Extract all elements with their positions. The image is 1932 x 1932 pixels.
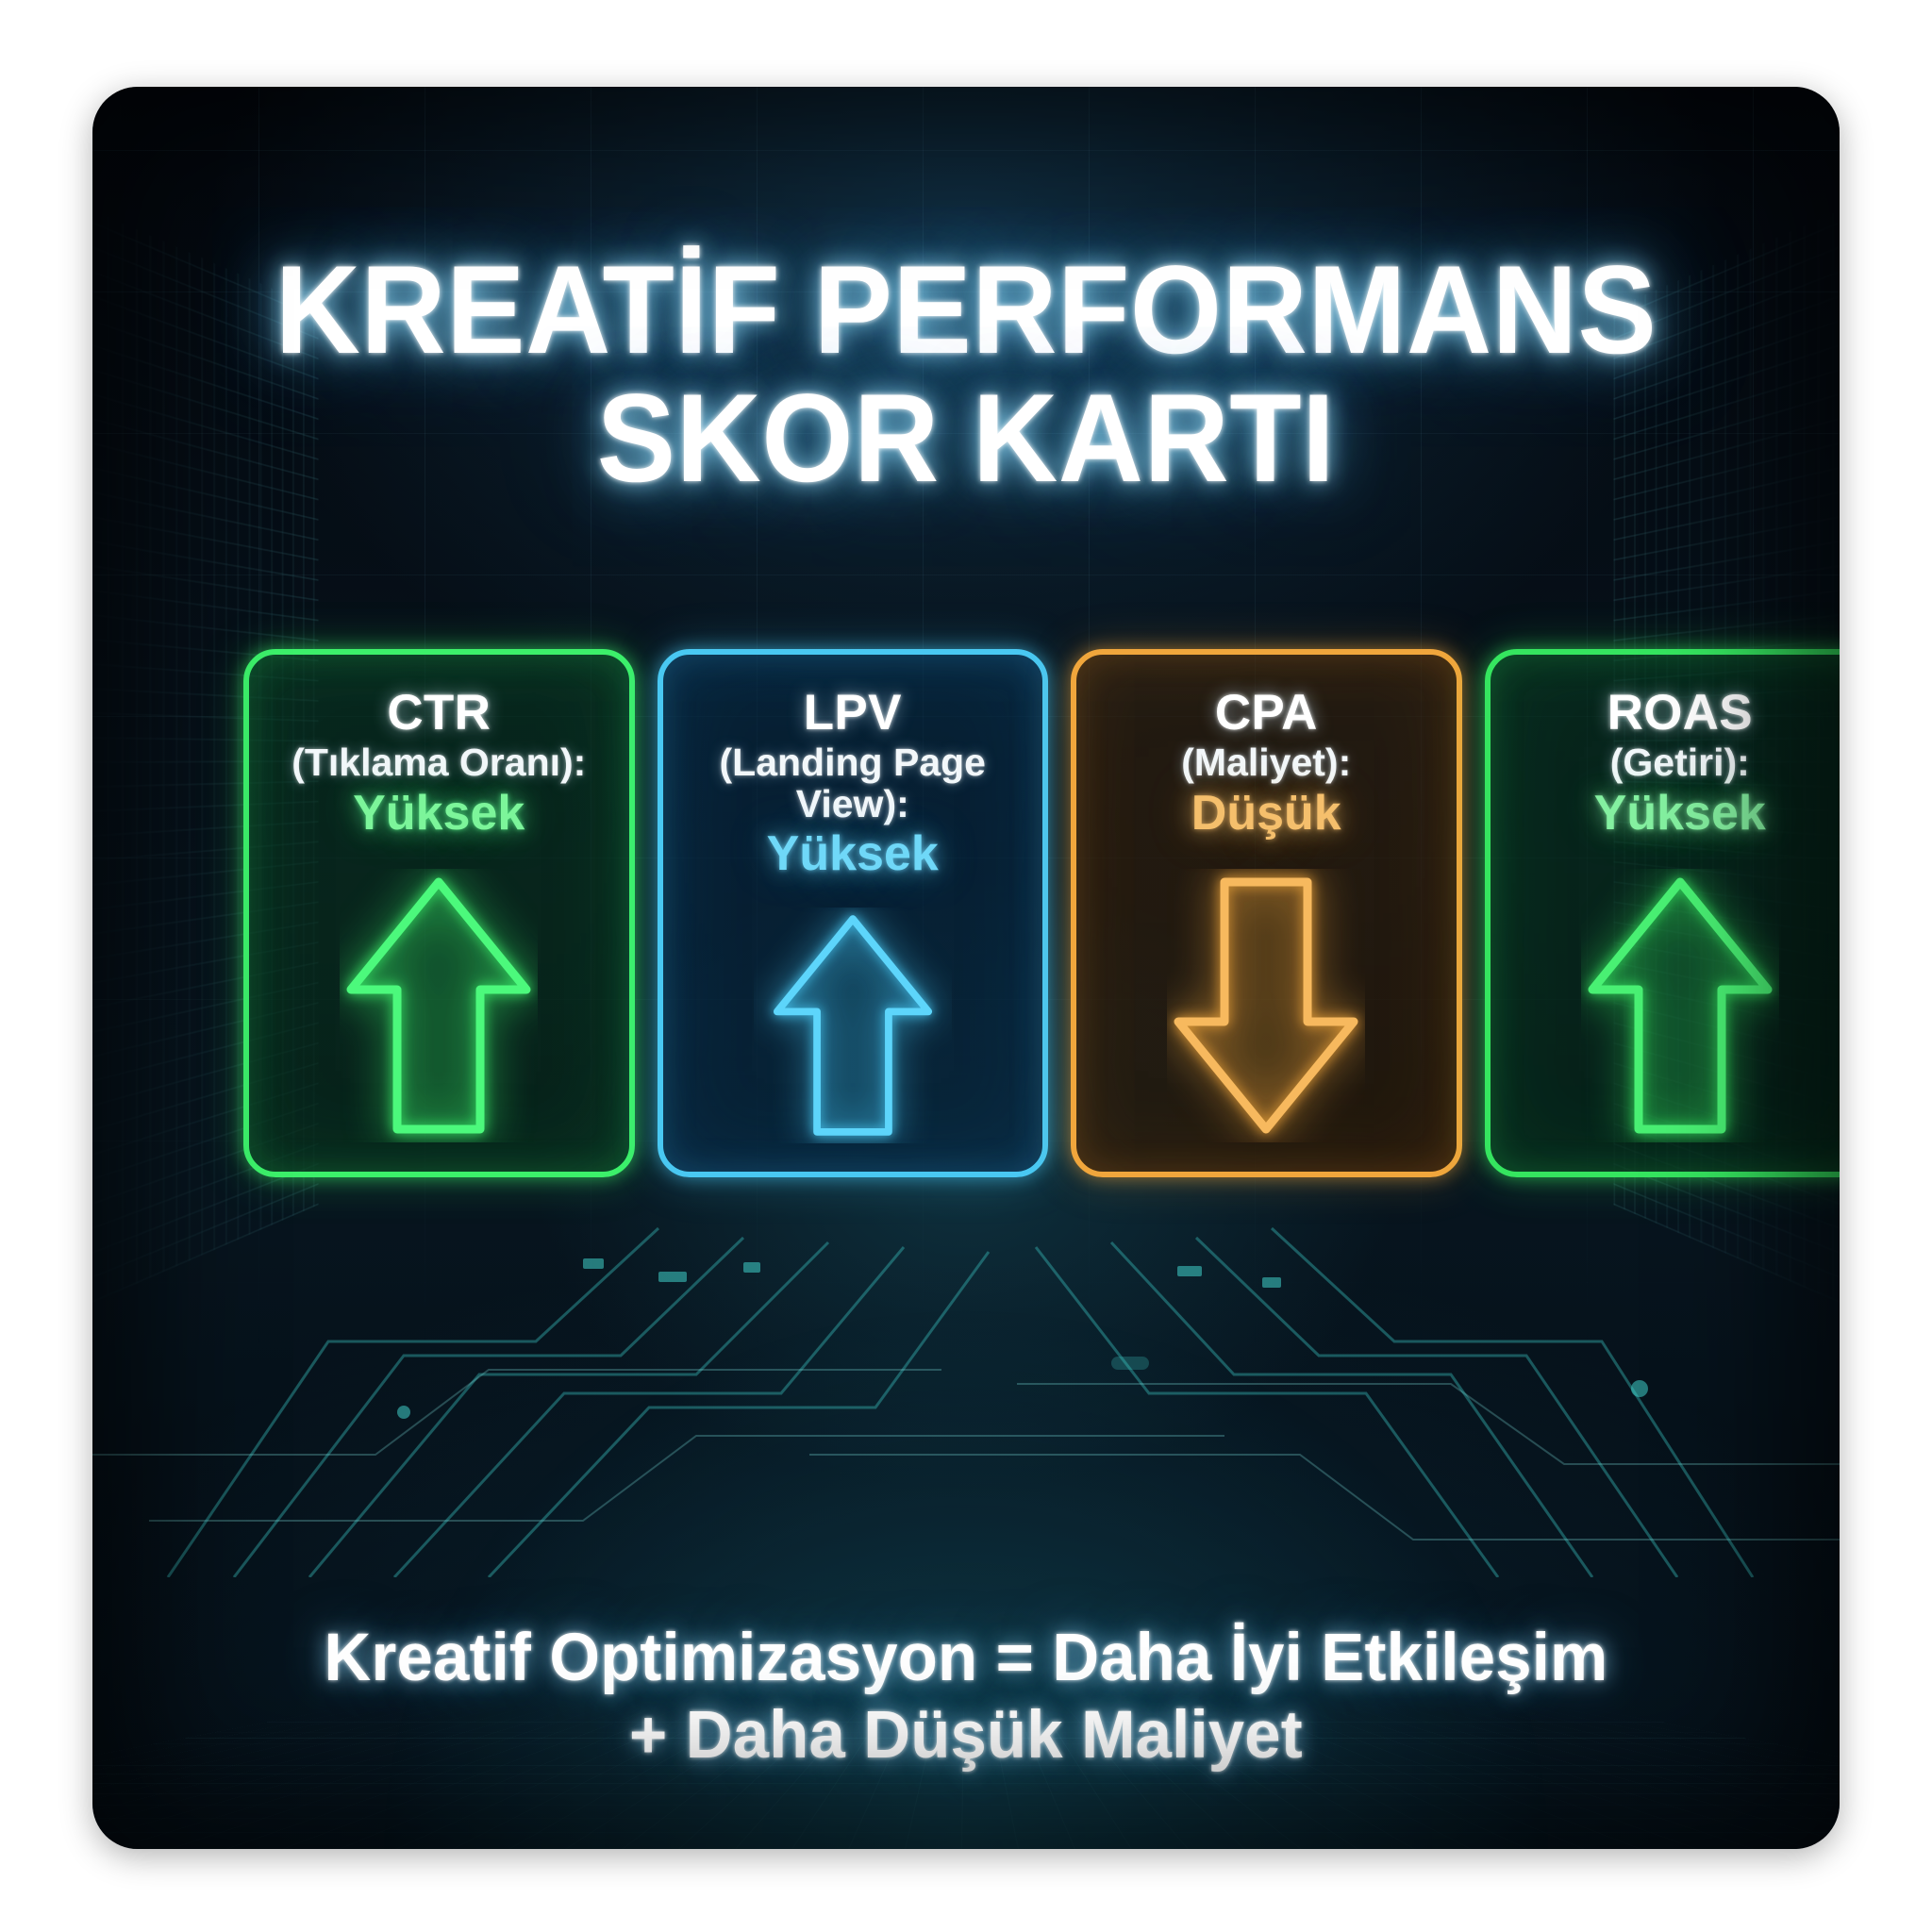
metric-value-lpv: Yüksek	[767, 828, 939, 880]
arrow-up-icon	[249, 839, 629, 1172]
metric-card-row: CTR (Tıklama Oranı): Yüksek LPV (Landing…	[243, 649, 1840, 1177]
footer-caption: Kreatif Optimizasyon = Daha İyi Etkileşi…	[92, 1620, 1840, 1775]
metric-code-roas: ROAS	[1607, 687, 1753, 739]
caption-line-2: + Daha Düşük Maliyet	[119, 1697, 1813, 1774]
metric-label-ctr: (Tıklama Oranı):	[284, 742, 593, 783]
metric-code-cpa: CPA	[1215, 687, 1318, 739]
metric-code-ctr: CTR	[387, 687, 491, 739]
metric-label-cpa: (Maliyet):	[1174, 742, 1358, 783]
metric-label-lpv: (Landing Page View):	[667, 742, 1039, 824]
arrow-up-icon	[1491, 839, 1840, 1172]
arrow-down-icon	[1076, 839, 1457, 1172]
metric-code-lpv: LPV	[804, 687, 902, 739]
metric-value-cpa: Düşük	[1191, 788, 1341, 840]
metric-card-ctr[interactable]: CTR (Tıklama Oranı): Yüksek	[243, 649, 635, 1177]
dark-panel: KREATİF PERFORMANS SKOR KARTI CTR (Tıkla…	[92, 87, 1840, 1849]
metric-value-roas: Yüksek	[1594, 788, 1766, 840]
infographic-canvas: KREATİF PERFORMANS SKOR KARTI CTR (Tıkla…	[0, 0, 1932, 1932]
metric-card-roas[interactable]: ROAS (Getiri): Yüksek	[1485, 649, 1840, 1177]
caption-line-1: Kreatif Optimizasyon = Daha İyi Etkileşi…	[119, 1620, 1813, 1697]
metric-label-roas: (Getiri):	[1603, 742, 1757, 783]
metric-value-ctr: Yüksek	[353, 788, 525, 840]
arrow-up-icon	[663, 880, 1043, 1172]
metric-card-cpa[interactable]: CPA (Maliyet): Düşük	[1071, 649, 1462, 1177]
circuit-traces	[92, 1172, 1840, 1577]
metric-card-lpv[interactable]: LPV (Landing Page View): Yüksek	[658, 649, 1049, 1177]
title-line-2: SKOR KARTI	[145, 375, 1788, 504]
page-title: KREATİF PERFORMANS SKOR KARTI	[92, 247, 1840, 503]
title-line-1: KREATİF PERFORMANS	[145, 247, 1788, 375]
